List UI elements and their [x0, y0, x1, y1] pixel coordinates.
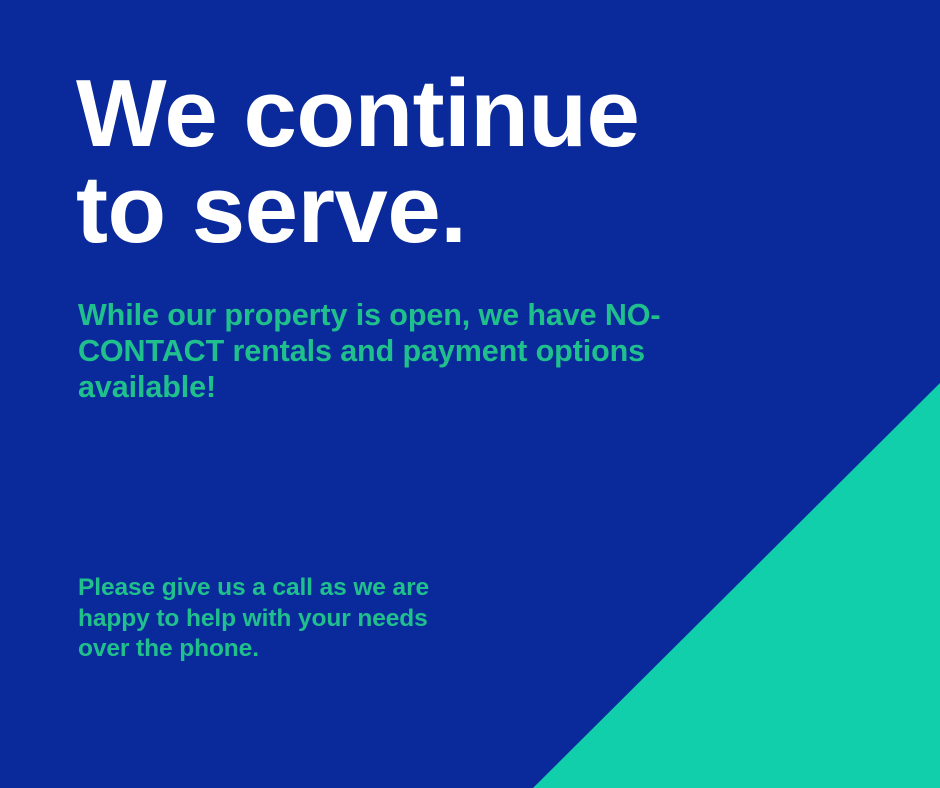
promotional-poster: We continue to serve. While our property… [0, 0, 940, 788]
page-title: We continue to serve. [76, 66, 836, 258]
closing-message-text: Please give us a call as we are happy to… [78, 573, 548, 665]
subheadline-text: While our property is open, we have NO-C… [78, 297, 698, 405]
poster-content: We continue to serve. While our property… [0, 0, 940, 788]
